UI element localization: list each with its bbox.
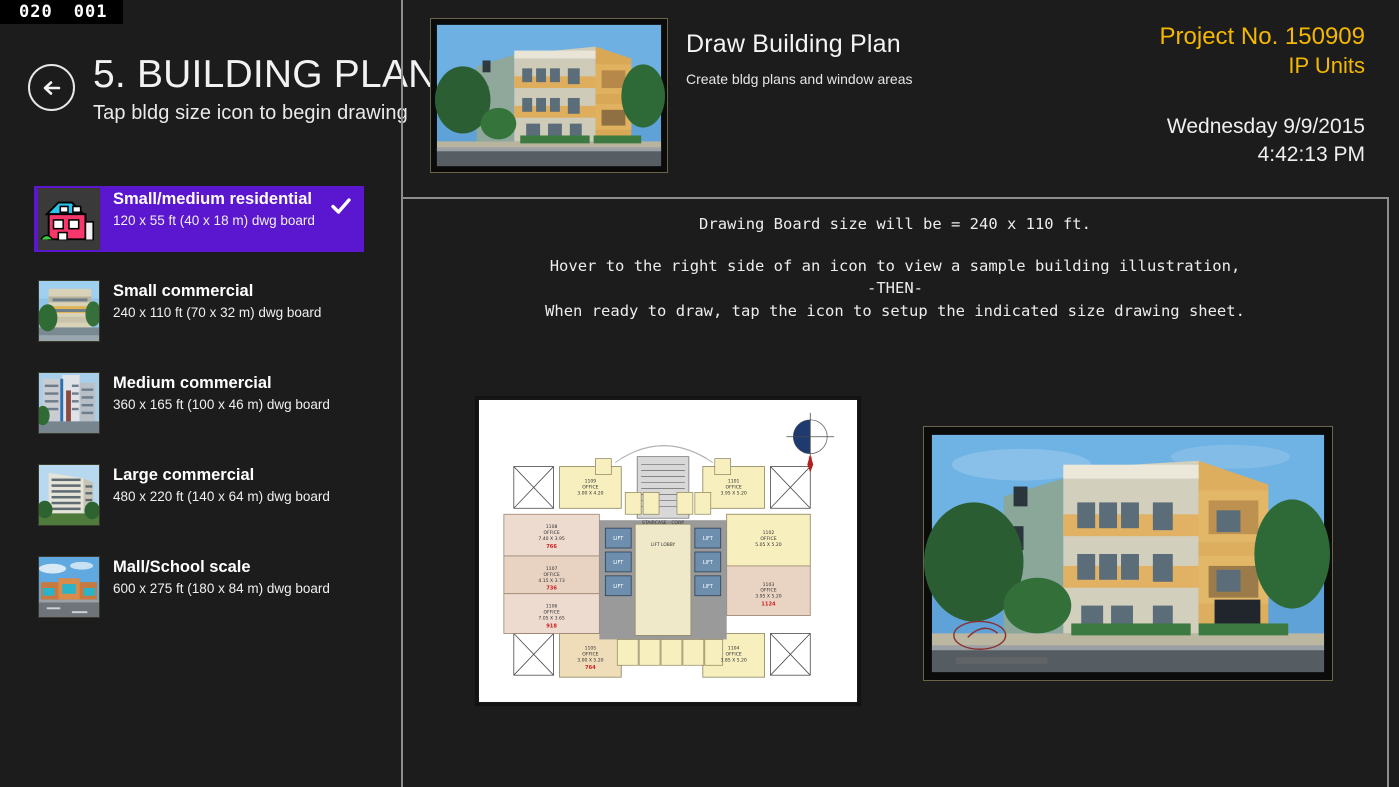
mall-school-photo-icon	[38, 556, 100, 618]
svg-text:LIFT LOBBY: LIFT LOBBY	[651, 542, 676, 548]
floor-plan-image: LIFTLIFTLIFT LIFTLIFTLIFT	[475, 396, 861, 706]
back-button[interactable]	[28, 64, 75, 111]
sidebar-item-text: Small commercial 240 x 110 ft (70 x 32 m…	[113, 278, 321, 320]
svg-text:1101: 1101	[728, 478, 740, 484]
svg-text:764: 764	[585, 665, 596, 671]
svg-text:LIFT: LIFT	[703, 584, 714, 590]
sidebar-item-label: Medium commercial	[113, 373, 330, 394]
current-date: Wednesday 9/9/2015	[1160, 115, 1365, 139]
building-size-list: Small/medium residential 120 x 55 ft (40…	[34, 186, 364, 646]
svg-text:1107: 1107	[546, 566, 558, 572]
building-illustration	[923, 426, 1333, 681]
hover-instruction: Hover to the right side of an icon to vi…	[403, 259, 1387, 275]
sidebar-item-label: Small/medium residential	[113, 189, 315, 210]
svg-text:OFFICE: OFFICE	[726, 484, 742, 490]
svg-text:1109: 1109	[585, 478, 597, 484]
page-title: 5. BUILDING PLAN	[93, 55, 436, 96]
svg-text:7.40 X 3.95: 7.40 X 3.95	[538, 536, 564, 542]
sidebar-item-medium-commercial[interactable]: Medium commercial 360 x 165 ft (100 x 46…	[34, 370, 364, 436]
svg-text:1106: 1106	[546, 604, 558, 610]
section-subtitle: Create bldg plans and window areas	[686, 71, 912, 87]
svg-text:1105: 1105	[585, 645, 597, 651]
svg-text:LIFT: LIFT	[613, 536, 624, 542]
svg-text:OFFICE: OFFICE	[582, 651, 598, 657]
svg-text:OFFICE: OFFICE	[543, 610, 559, 616]
instructions-block: Drawing Board size will be = 240 x 110 f…	[403, 217, 1387, 319]
sidebar-item-text: Mall/School scale 600 x 275 ft (180 x 84…	[113, 554, 330, 596]
svg-text:3.00 X 4.20: 3.00 X 4.20	[577, 490, 603, 496]
svg-text:3.95 X 5.20: 3.95 X 5.20	[755, 594, 781, 600]
current-time: 4:42:13 PM	[1160, 143, 1365, 167]
svg-text:OFFICE: OFFICE	[582, 484, 598, 490]
page-subtitle: Tap bldg size icon to begin drawing	[93, 102, 436, 125]
svg-text:1108: 1108	[546, 524, 558, 530]
sidebar-item-label: Mall/School scale	[113, 557, 330, 578]
sidebar-item-text: Large commercial 480 x 220 ft (140 x 64 …	[113, 462, 330, 504]
header-building-render	[430, 18, 668, 173]
svg-text:OFFICE: OFFICE	[543, 572, 559, 578]
medium-commercial-photo-icon	[38, 372, 100, 434]
page-header: 5. BUILDING PLAN Tap bldg size icon to b…	[28, 55, 436, 125]
small-commercial-photo-icon	[38, 280, 100, 342]
sidebar-item-label: Small commercial	[113, 281, 321, 302]
sidebar-item-mall-school-scale[interactable]: Mall/School scale 600 x 275 ft (180 x 84…	[34, 554, 364, 620]
svg-text:OFFICE: OFFICE	[760, 536, 776, 542]
svg-text:766: 766	[546, 544, 557, 550]
svg-text:LIFT: LIFT	[613, 584, 624, 590]
sidebar-item-small-medium-residential[interactable]: Small/medium residential 120 x 55 ft (40…	[34, 186, 364, 252]
header-center-text: Draw Building Plan Create bldg plans and…	[686, 30, 912, 87]
house-clipart-icon	[38, 188, 100, 250]
header-right-info: Project No. 150909 IP Units Wednesday 9/…	[1160, 22, 1365, 167]
svg-text:1104: 1104	[728, 645, 740, 651]
svg-text:3.95 X 5.20: 3.95 X 5.20	[720, 490, 746, 496]
svg-text:LIFT: LIFT	[703, 536, 714, 542]
section-title: Draw Building Plan	[686, 30, 912, 59]
ready-instruction: When ready to draw, tap the icon to setu…	[403, 304, 1387, 320]
svg-text:3.00 X 5.20: 3.00 X 5.20	[577, 657, 603, 663]
svg-text:OFFICE: OFFICE	[726, 651, 742, 657]
sidebar-item-dimensions: 600 x 275 ft (180 x 84 m) dwg board	[113, 581, 330, 596]
svg-text:1102: 1102	[763, 530, 775, 536]
svg-text:OFFICE: OFFICE	[760, 588, 776, 594]
svg-text:OFFICE: OFFICE	[543, 530, 559, 536]
sidebar-item-large-commercial[interactable]: Large commercial 480 x 220 ft (140 x 64 …	[34, 462, 364, 528]
svg-text:LIFT: LIFT	[703, 560, 714, 566]
svg-text:5.05 X 5.20: 5.05 X 5.20	[755, 542, 781, 548]
check-icon	[330, 195, 352, 217]
large-commercial-photo-icon	[38, 464, 100, 526]
sidebar-item-dimensions: 240 x 110 ft (70 x 32 m) dwg board	[113, 305, 321, 320]
svg-text:736: 736	[546, 586, 557, 592]
svg-text:1103: 1103	[763, 582, 775, 588]
project-number: Project No. 150909	[1160, 22, 1365, 52]
sidebar-item-dimensions: 360 x 165 ft (100 x 46 m) dwg board	[113, 397, 330, 412]
sidebar-item-label: Large commercial	[113, 465, 330, 486]
then-label: -THEN-	[403, 281, 1387, 297]
svg-text:LIFT: LIFT	[613, 560, 624, 566]
svg-text:4.15 X 3.73: 4.15 X 3.73	[538, 578, 564, 584]
app-root: 020 001 5. BUILDING PLAN Tap bldg size i…	[0, 0, 1399, 787]
sidebar-item-text: Small/medium residential 120 x 55 ft (40…	[113, 186, 315, 228]
title-block: 5. BUILDING PLAN Tap bldg size icon to b…	[93, 55, 436, 125]
units-label: IP Units	[1160, 52, 1365, 81]
sidebar-item-dimensions: 120 x 55 ft (40 x 18 m) dwg board	[113, 213, 315, 228]
svg-text:STAIRCASE - CORP: STAIRCASE - CORP	[642, 520, 684, 526]
svg-text:7.05 X 3.65: 7.05 X 3.65	[538, 616, 564, 622]
svg-text:3.85 X 5.20: 3.85 X 5.20	[720, 657, 746, 663]
board-size-text: Drawing Board size will be = 240 x 110 f…	[403, 217, 1387, 233]
sidebar-item-text: Medium commercial 360 x 165 ft (100 x 46…	[113, 370, 330, 412]
svg-text:N: N	[808, 457, 812, 463]
main-panel: Drawing Board size will be = 240 x 110 f…	[401, 197, 1389, 787]
sidebar-item-dimensions: 480 x 220 ft (140 x 64 m) dwg board	[113, 489, 330, 504]
svg-text:918: 918	[546, 624, 557, 630]
left-column: 5. BUILDING PLAN Tap bldg size icon to b…	[0, 0, 401, 787]
sidebar-item-small-commercial[interactable]: Small commercial 240 x 110 ft (70 x 32 m…	[34, 278, 364, 344]
svg-text:1124: 1124	[761, 602, 776, 608]
back-arrow-icon	[38, 74, 66, 102]
